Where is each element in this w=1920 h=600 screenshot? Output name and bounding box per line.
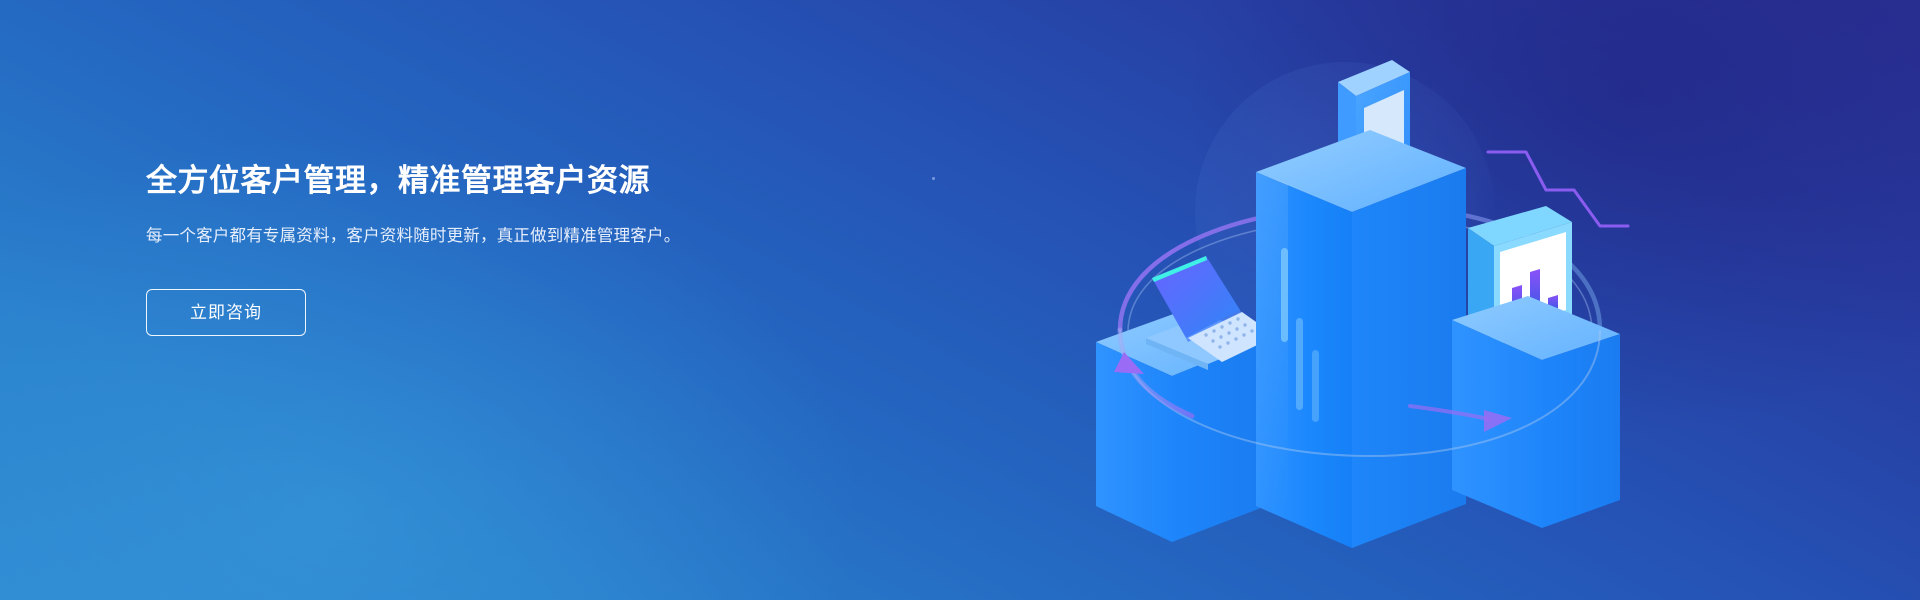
hero-banner: 全方位客户管理，精准管理客户资源 每一个客户都有专属资料，客户资料随时更新，真正… — [0, 0, 1920, 600]
hero-subtitle: 每一个客户都有专属资料，客户资料随时更新，真正做到精准管理客户。 — [146, 223, 731, 250]
consult-now-button[interactable]: 立即咨询 — [146, 289, 306, 336]
sparkle-dot-icon — [932, 177, 935, 180]
right-pillar-face-right — [1542, 334, 1620, 528]
pillar-glow-bar-3 — [1312, 350, 1319, 422]
center-pillar-highlight — [1256, 172, 1288, 516]
hero-copy-block: 全方位客户管理，精准管理客户资源 每一个客户都有专属资料，客户资料随时更新，真正… — [146, 162, 786, 336]
right-pillar-group — [1452, 152, 1628, 528]
center-pillar-group — [1256, 60, 1466, 548]
left-pillar-group — [1096, 256, 1276, 542]
hero-illustration — [1080, 20, 1640, 580]
center-pillar-face-right — [1352, 168, 1466, 548]
page-title: 全方位客户管理，精准管理客户资源 — [146, 162, 786, 201]
pillar-glow-bar-2 — [1296, 318, 1303, 410]
